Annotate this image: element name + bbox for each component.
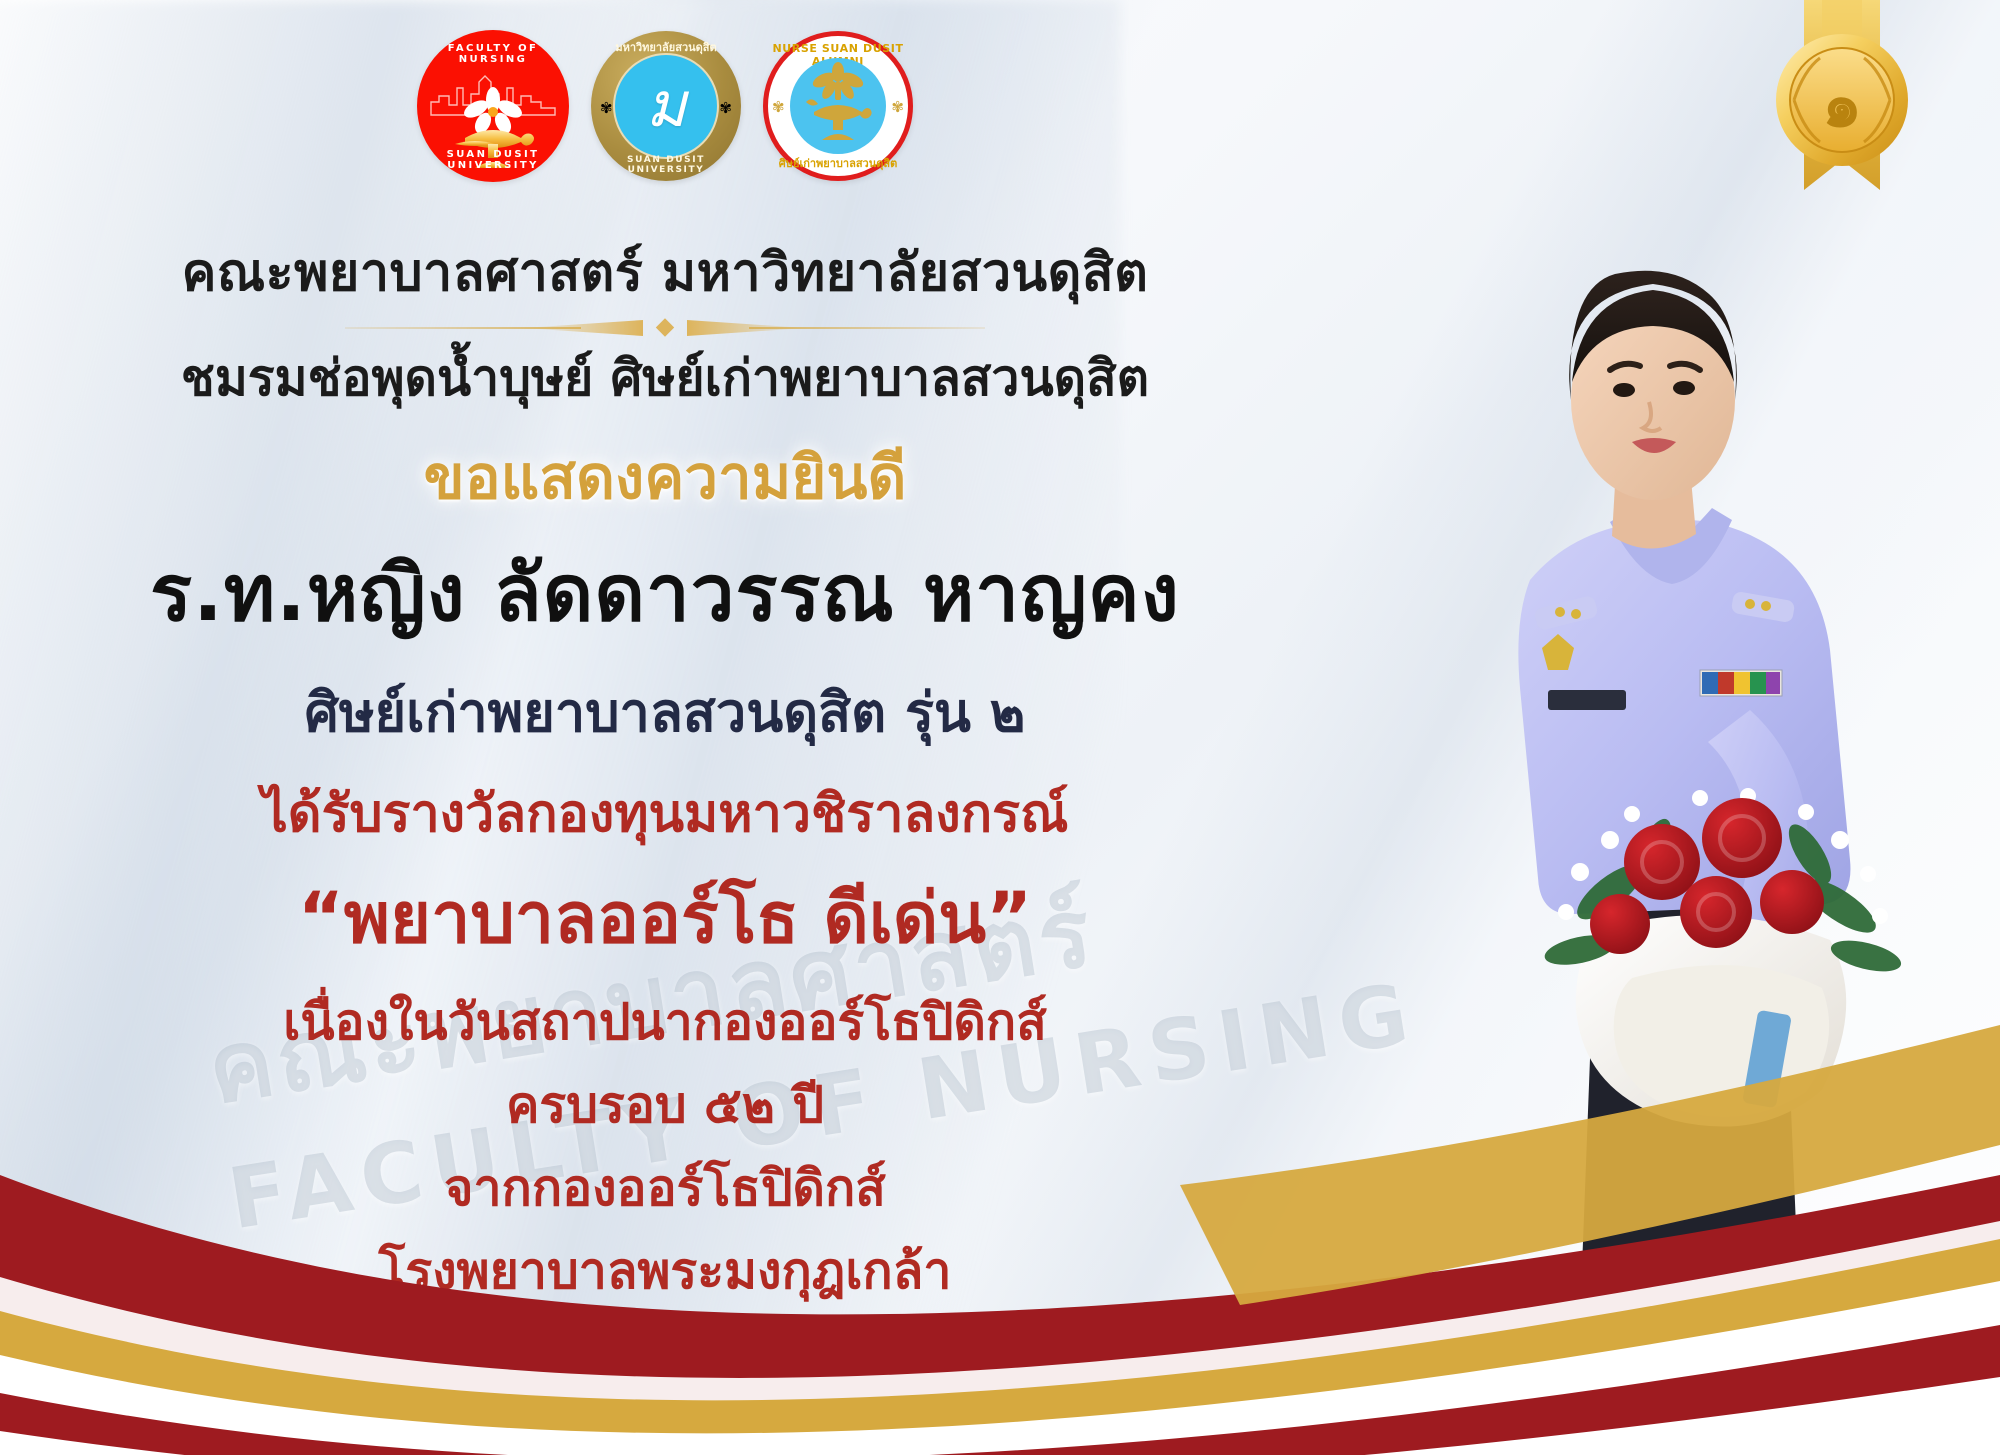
- alumni-lamp-icon: [798, 62, 878, 144]
- flower-icon-left: ✾: [600, 99, 613, 117]
- nurse-suan-dusit-alumni-seal: NURSE SUAN DUSIT ALUMNI ✾ ✾ ศิษย์: [763, 31, 913, 181]
- sdu-inner-disc: ม: [613, 53, 719, 159]
- first-place-medal: ๑: [1752, 0, 1932, 260]
- suan-dusit-university-seal: มหาวิทยาลัยสวนดุสิต ม ✾ ✾ SUAN DUSIT UNI…: [591, 31, 741, 181]
- honoree-name: ร.ท.หญิง ลัดดาวรรณ หาญคง: [0, 531, 1330, 655]
- faculty-of-nursing-arc-bottom: SUAN DUSIT UNIVERSITY: [417, 149, 569, 171]
- divider-wing-right: [687, 320, 807, 336]
- organization-line: คณะพยาบาลศาสตร์ มหาวิทยาลัยสวนดุสิต: [0, 230, 1330, 313]
- award-title: “พยาบาลออร์โธ ดีเด่น”: [0, 862, 1330, 973]
- congratulations-poster: คณะพยาบาลศาสตร์ FACULTY OF NURSING FACUL…: [0, 0, 2000, 1455]
- divider-diamond: [656, 318, 674, 336]
- star-flower-icon-right: ✾: [891, 98, 904, 116]
- alumni-arc-bottom: ศิษย์เก่าพยาบาลสวนดุสิต: [768, 154, 908, 172]
- congratulations-line: ขอแสดงความยินดี: [0, 430, 1330, 525]
- star-flower-icon-left: ✾: [772, 98, 785, 116]
- faculty-of-nursing-seal: FACULTY OF NURSING: [417, 30, 569, 182]
- logo-row: FACULTY OF NURSING: [0, 30, 1330, 182]
- bottom-decorative-waves: [0, 1025, 2000, 1455]
- club-line: ชมรมช่อพุดน้ำบุษย์ ศิษย์เก่าพยาบาลสวนดุส…: [0, 339, 1330, 418]
- honoree-batch: ศิษย์เก่าพยาบาลสวนดุสิต รุ่น ๒: [0, 669, 1330, 755]
- flower-icon-right: ✾: [719, 99, 732, 117]
- sdu-arc-bottom: SUAN DUSIT UNIVERSITY: [591, 155, 741, 175]
- faculty-of-nursing-arc-top: FACULTY OF NURSING: [417, 43, 569, 65]
- award-received-line: ได้รับรางวัลกองทุนมหาวชิราลงกรณ์: [0, 771, 1330, 854]
- gold-divider: [345, 319, 985, 337]
- sdu-monogram: ม: [615, 74, 717, 136]
- medal-number: ๑: [1822, 68, 1861, 141]
- divider-wing-left: [523, 320, 643, 336]
